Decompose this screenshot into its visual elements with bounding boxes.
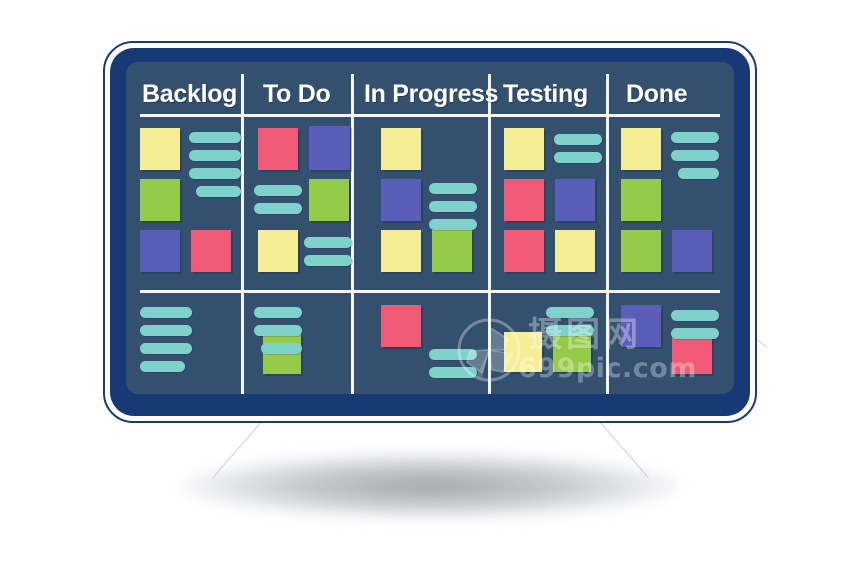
sticky-note-done-top-1[interactable] (621, 179, 661, 221)
board-drop-shadow (180, 452, 680, 520)
task-line-done-top-2[interactable] (678, 168, 719, 179)
sticky-note-done-bottom-0[interactable] (621, 305, 661, 347)
sticky-note-todo-bottom-0[interactable] (263, 334, 301, 374)
column-divider-testing-done (606, 74, 609, 394)
task-line-backlog-top-2[interactable] (189, 168, 241, 179)
task-line-backlog-top-0[interactable] (189, 132, 241, 143)
task-line-done-bottom-0[interactable] (671, 310, 719, 321)
column-divider-inprogress-testing (488, 74, 491, 394)
column-header-backlog[interactable]: Backlog (142, 80, 237, 109)
sticky-note-inprogress-top-1[interactable] (381, 179, 421, 221)
task-line-inprogress-top-2[interactable] (429, 219, 477, 230)
sticky-note-todo-top-2[interactable] (309, 179, 349, 221)
task-line-backlog-bottom-0[interactable] (140, 307, 192, 318)
task-line-todo-top-0[interactable] (254, 185, 302, 196)
sticky-note-testing-top-4[interactable] (555, 230, 595, 272)
column-header-inprogress[interactable]: In Progress (364, 80, 498, 109)
task-line-todo-top-2[interactable] (304, 237, 352, 248)
task-line-todo-bottom-1[interactable] (254, 325, 302, 336)
task-line-inprogress-top-1[interactable] (429, 201, 477, 212)
task-line-testing-top-1[interactable] (554, 152, 602, 163)
task-line-inprogress-top-0[interactable] (429, 183, 477, 194)
task-line-testing-top-0[interactable] (554, 134, 602, 145)
sticky-note-inprogress-bottom-0[interactable] (381, 305, 421, 347)
sticky-note-testing-top-2[interactable] (555, 179, 595, 221)
sticky-note-todo-top-1[interactable] (309, 126, 350, 170)
task-line-todo-bottom-0[interactable] (254, 307, 302, 318)
sticky-note-testing-top-3[interactable] (504, 230, 544, 272)
sticky-note-testing-bottom-1[interactable] (553, 332, 591, 372)
task-line-backlog-bottom-3[interactable] (140, 361, 185, 372)
task-line-backlog-bottom-1[interactable] (140, 325, 192, 336)
task-line-backlog-bottom-2[interactable] (140, 343, 192, 354)
task-line-todo-top-3[interactable] (304, 255, 352, 266)
sticky-note-backlog-top-3[interactable] (191, 230, 231, 272)
task-line-inprogress-bottom-1[interactable] (429, 367, 477, 378)
task-line-done-top-1[interactable] (671, 150, 719, 161)
column-header-testing[interactable]: Testing (503, 80, 588, 109)
column-header-done[interactable]: Done (626, 80, 687, 109)
task-line-todo-bottom-2[interactable] (261, 343, 302, 354)
kanban-board-surface: Backlog To Do In Progress Testing Done 摄… (126, 62, 734, 394)
task-line-backlog-top-3[interactable] (196, 186, 241, 197)
task-line-todo-top-1[interactable] (254, 203, 302, 214)
sticky-note-inprogress-top-3[interactable] (432, 230, 472, 272)
header-separator-rule (140, 114, 720, 117)
sticky-note-testing-bottom-0[interactable] (504, 332, 542, 372)
sticky-note-done-top-3[interactable] (672, 230, 712, 272)
sticky-note-done-top-2[interactable] (621, 230, 661, 272)
column-divider-backlog-todo (241, 74, 244, 394)
sticky-note-todo-top-0[interactable] (258, 128, 298, 170)
sticky-note-testing-top-0[interactable] (504, 128, 544, 170)
column-divider-todo-inprogress (351, 74, 354, 394)
task-line-testing-bottom-0[interactable] (546, 307, 594, 318)
task-line-backlog-top-1[interactable] (189, 150, 241, 161)
sticky-note-done-top-0[interactable] (621, 128, 661, 170)
sticky-note-inprogress-top-0[interactable] (381, 128, 421, 170)
sticky-note-todo-top-3[interactable] (258, 230, 298, 272)
task-line-done-top-0[interactable] (671, 132, 719, 143)
sticky-note-backlog-top-0[interactable] (140, 128, 180, 170)
sticky-note-testing-top-1[interactable] (504, 179, 544, 221)
sticky-note-inprogress-top-2[interactable] (381, 230, 421, 272)
task-line-done-bottom-1[interactable] (671, 328, 719, 339)
sticky-note-backlog-top-1[interactable] (140, 179, 180, 221)
column-header-todo[interactable]: To Do (263, 80, 330, 109)
sticky-note-backlog-top-2[interactable] (140, 230, 180, 272)
swimlane-separator-rule (140, 290, 720, 293)
task-line-testing-bottom-1[interactable] (546, 325, 594, 336)
task-line-inprogress-bottom-0[interactable] (429, 349, 477, 360)
